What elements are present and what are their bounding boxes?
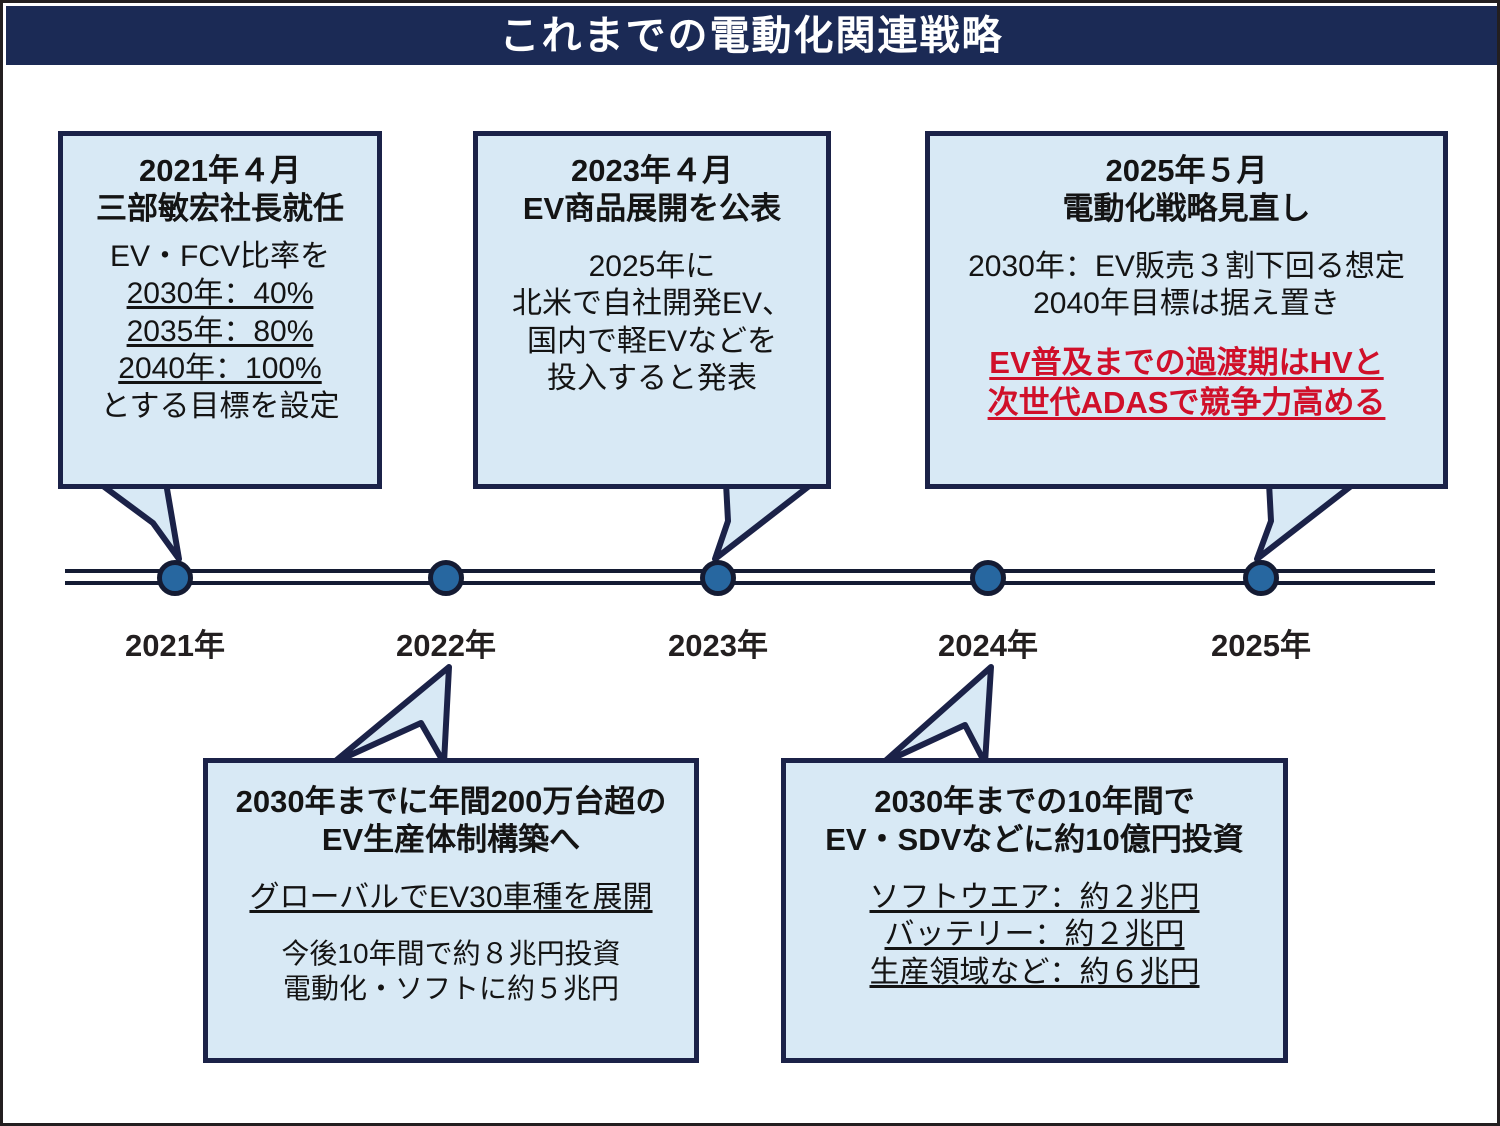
spacer [930,228,1443,248]
callout-2024[interactable]: 2030年までの10年間で EV・SDVなどに約10億円投資 ソフトウエア：約２… [781,758,1288,1063]
timeline-axis [65,569,1435,587]
callout-2023-body-line-4: 投入すると発表 [478,360,826,398]
callout-2025-heading-line-1: 2025年５月 [930,152,1443,190]
callout-2022-heading-line-1: 2030年までに年間200万台超の [208,783,694,821]
timeline-node-2023[interactable] [700,560,736,596]
tail-2023 [715,483,813,559]
callout-2025-highlight-line-1: EV普及までの過渡期はHVと [930,343,1443,383]
callout-2025-heading-line-2: 電動化戦略見直し [930,190,1443,228]
spacer [478,228,826,248]
callout-2021-target-2030: 2030年：40% [63,275,377,313]
callout-2024-heading-line-1: 2030年までの10年間で [786,783,1283,821]
spacer [930,323,1443,343]
timeline-node-2024[interactable] [970,560,1006,596]
callout-2024-item-battery: バッテリー：約２兆円 [786,916,1283,954]
callout-2024-item-software: ソフトウエア：約２兆円 [786,879,1283,917]
tail-2025 [1257,483,1355,559]
callout-2021-body-line-1: EV・FCV比率を [63,238,377,276]
callout-2025-highlight-line-2: 次世代ADASで競争力高める [930,383,1443,423]
timeline-node-2022[interactable] [428,560,464,596]
spacer [63,228,377,238]
callout-2021-target-2040: 2040年：100% [63,350,377,388]
callout-2022-footer-line-1: 今後10年間で約８兆円投資 [208,936,694,971]
year-label-2024: 2024年 [938,620,1038,665]
callout-2022-footer-line-2: 電動化・ソフトに約５兆円 [208,971,694,1006]
callout-2021-heading-line-1: 2021年４月 [63,152,377,190]
year-label-2025: 2025年 [1211,620,1311,665]
callout-2021-heading-line-2: 三部敏宏社長就任 [63,190,377,228]
callout-2023-body-line-1: 2025年に [478,248,826,286]
axis-line-top [65,569,1435,573]
callout-2025-body-line-1: 2030年：EV販売３割下回る想定 [930,248,1443,286]
year-label-2022: 2022年 [396,620,496,665]
year-label-2021: 2021年 [125,620,225,665]
year-label-2023: 2023年 [668,620,768,665]
callout-2022-heading-line-2: EV生産体制構築へ [208,821,694,859]
spacer [208,859,694,879]
callout-2021-target-2035: 2035年：80% [63,313,377,351]
callout-2023-body-line-3: 国内で軽EVなどを [478,323,826,361]
callout-2022-underlined-line-1: グローバルでEV30車種を展開 [208,879,694,917]
timeline-node-2021[interactable] [157,560,193,596]
spacer [786,859,1283,879]
axis-line-bottom [65,581,1435,585]
callout-2023-heading-line-1: 2023年４月 [478,152,826,190]
callout-2021[interactable]: 2021年４月 三部敏宏社長就任 EV・FCV比率を 2030年：40% 203… [58,131,382,489]
callout-2021-footer-line-1: とする目標を設定 [63,388,377,426]
callout-2025[interactable]: 2025年５月 電動化戦略見直し 2030年：EV販売３割下回る想定 2040年… [925,131,1448,489]
callout-2025-body-line-2: 2040年目標は据え置き [930,285,1443,323]
tail-2024 [883,667,991,763]
callout-2023[interactable]: 2023年４月 EV商品展開を公表 2025年に 北米で自社開発EV、 国内で軽… [473,131,831,489]
callout-2023-heading-line-2: EV商品展開を公表 [478,190,826,228]
header-bar: これまでの電動化関連戦略 [6,6,1497,65]
timeline-node-2025[interactable] [1243,560,1279,596]
tail-2021 [99,483,179,559]
callout-2024-heading-line-2: EV・SDVなどに約10億円投資 [786,821,1283,859]
callout-2022[interactable]: 2030年までに年間200万台超の EV生産体制構築へ グローバルでEV30車種… [203,758,699,1063]
page-title: これまでの電動化関連戦略 [500,16,1004,56]
callout-2024-item-production: 生産領域など：約６兆円 [786,954,1283,992]
callout-2023-body-line-2: 北米で自社開発EV、 [478,285,826,323]
spacer [208,916,694,936]
tail-2022 [333,667,449,763]
infographic-root: これまでの電動化関連戦略 2021年 2022年 2023年 2024年 202… [0,0,1500,1126]
